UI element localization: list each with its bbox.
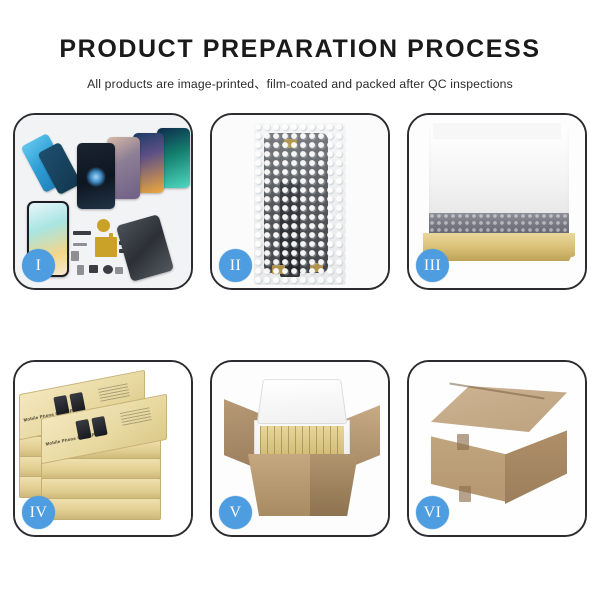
process-step-panel-2[interactable]: II [210,113,390,290]
product-preparation-infographic: PRODUCT PREPARATION PROCESS All products… [0,0,600,600]
page-subtitle: All products are image-printed、film-coat… [0,74,600,92]
step-badge-2: II [219,249,252,282]
process-step-panel-4[interactable]: Mobile Phone Spare Parts Mobile Phone Sp… [13,360,193,537]
step-badge-4: IV [22,496,55,529]
process-step-panel-5[interactable]: V [210,360,390,537]
process-step-panel-6[interactable]: VI [407,360,587,537]
step-badge-1: I [22,249,55,282]
process-step-panel-3[interactable]: III [407,113,587,290]
process-step-panel-1[interactable]: I [13,113,193,290]
header: PRODUCT PREPARATION PROCESS All products… [0,0,600,92]
step-badge-5: V [219,496,252,529]
step-badge-6: VI [416,496,449,529]
page-title: PRODUCT PREPARATION PROCESS [0,36,600,64]
step-badge-3: III [416,249,449,282]
process-step-grid: I II [13,113,587,537]
